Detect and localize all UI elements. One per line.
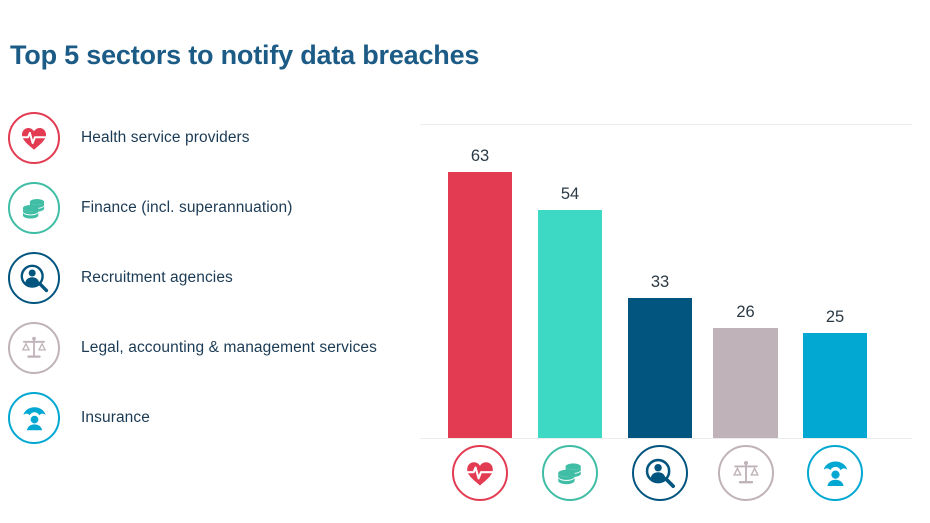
bar-value-insurance: 25: [803, 308, 867, 327]
bar-group-insurance[interactable]: 25: [803, 124, 867, 438]
axis-tick-health[interactable]: [452, 445, 508, 501]
bar-group-recruitment[interactable]: 33: [628, 124, 692, 438]
person-magnifier-icon: [632, 445, 688, 501]
bar-recruitment[interactable]: [628, 298, 692, 438]
person-umbrella-icon: [807, 445, 863, 501]
bar-finance[interactable]: [538, 210, 602, 438]
heartbeat-icon: [452, 445, 508, 501]
bar-group-legal[interactable]: 26: [713, 124, 778, 438]
scales-icon: [8, 322, 60, 374]
bar-value-finance: 54: [538, 185, 602, 204]
axis-tick-finance[interactable]: [542, 445, 598, 501]
person-magnifier-icon: [8, 252, 60, 304]
bar-group-finance[interactable]: 54: [538, 124, 602, 438]
bar-chart: 63 54 33 26 25: [420, 124, 912, 439]
coins-icon: [542, 445, 598, 501]
legend-label-recruitment: Recruitment agencies: [81, 269, 233, 287]
legend: Health service providers Finance (incl. …: [8, 103, 408, 453]
legend-label-insurance: Insurance: [81, 409, 150, 427]
axis-tick-insurance[interactable]: [807, 445, 863, 501]
axis-icon-row: [420, 445, 912, 507]
page-title: Top 5 sectors to notify data breaches: [10, 40, 479, 71]
legend-item-health[interactable]: Health service providers: [8, 103, 408, 173]
heartbeat-icon: [8, 112, 60, 164]
person-umbrella-icon: [8, 392, 60, 444]
axis-tick-legal[interactable]: [718, 445, 774, 501]
bar-value-recruitment: 33: [628, 273, 692, 292]
legend-item-finance[interactable]: Finance (incl. superannuation): [8, 173, 408, 243]
bar-health[interactable]: [448, 172, 512, 438]
legend-item-insurance[interactable]: Insurance: [8, 383, 408, 453]
axis-tick-recruitment[interactable]: [632, 445, 688, 501]
legend-item-legal[interactable]: Legal, accounting & management services: [8, 313, 408, 383]
bar-group-health[interactable]: 63: [448, 124, 512, 438]
legend-label-legal: Legal, accounting & management services: [81, 339, 377, 357]
infographic-root: Top 5 sectors to notify data breaches He…: [0, 0, 930, 523]
bar-value-health: 63: [448, 147, 512, 166]
chart-plot-area: 63 54 33 26 25: [420, 124, 912, 438]
coins-icon: [8, 182, 60, 234]
bar-value-legal: 26: [713, 303, 778, 322]
scales-icon: [718, 445, 774, 501]
legend-item-recruitment[interactable]: Recruitment agencies: [8, 243, 408, 313]
legend-label-health: Health service providers: [81, 129, 250, 147]
legend-label-finance: Finance (incl. superannuation): [81, 199, 293, 217]
bar-insurance[interactable]: [803, 333, 867, 438]
bar-legal[interactable]: [713, 328, 778, 438]
chart-baseline: [420, 438, 912, 439]
